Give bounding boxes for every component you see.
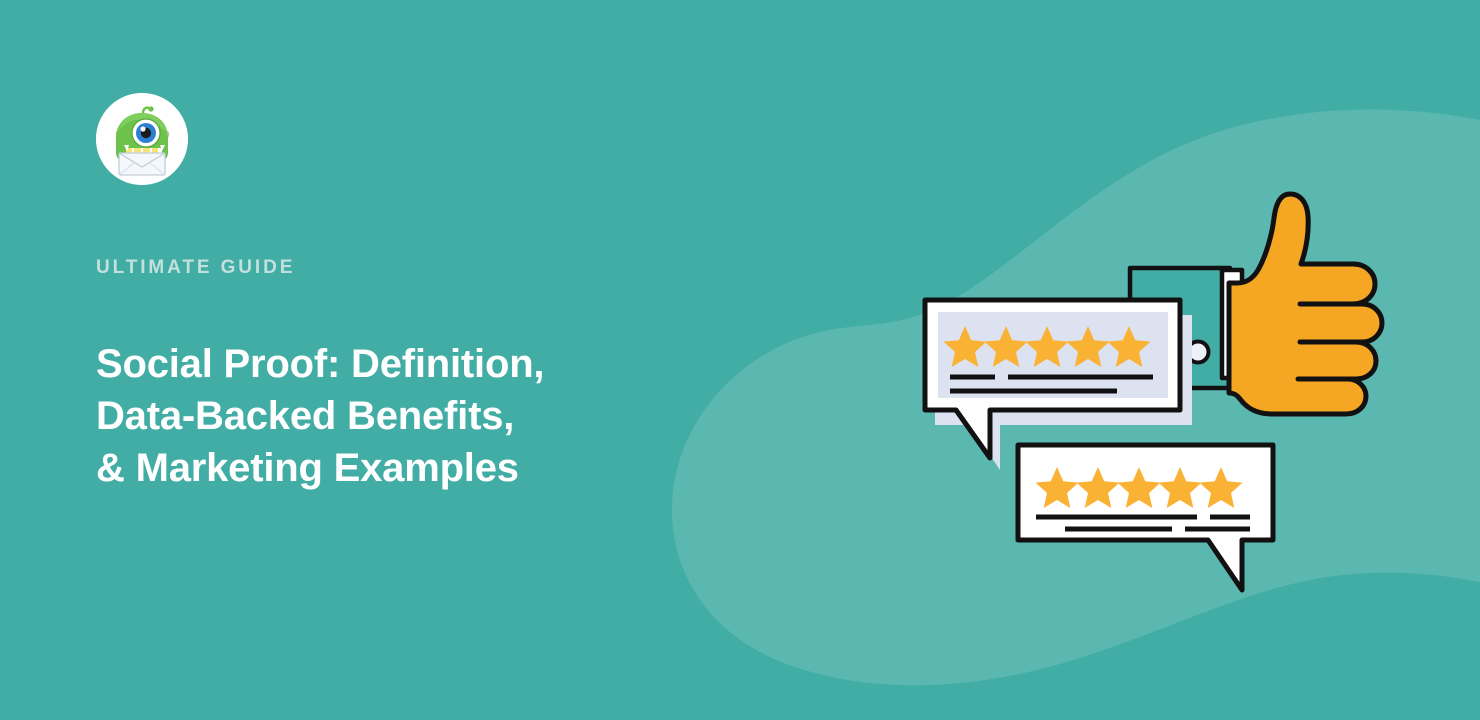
thumbs-up-hand <box>1229 194 1382 414</box>
page-title-line-3: & Marketing Examples <box>96 442 696 494</box>
page-title-line-1: Social Proof: Definition, <box>96 338 696 390</box>
blog-header-banner: ULTIMATE GUIDE Social Proof: Definition,… <box>0 0 1480 720</box>
header-text-column: ULTIMATE GUIDE Social Proof: Definition,… <box>96 0 716 720</box>
page-title: Social Proof: Definition, Data-Backed Be… <box>96 338 696 494</box>
social-proof-reviews-thumbs-up-illustration <box>800 100 1480 720</box>
page-title-line-2: Data-Backed Benefits, <box>96 390 696 442</box>
review-bubble-bottom[interactable] <box>1018 445 1273 590</box>
optinmonster-logo[interactable] <box>96 93 188 185</box>
optinmonster-monster-envelope-icon <box>96 93 188 185</box>
eyebrow-label: ULTIMATE GUIDE <box>96 258 295 277</box>
